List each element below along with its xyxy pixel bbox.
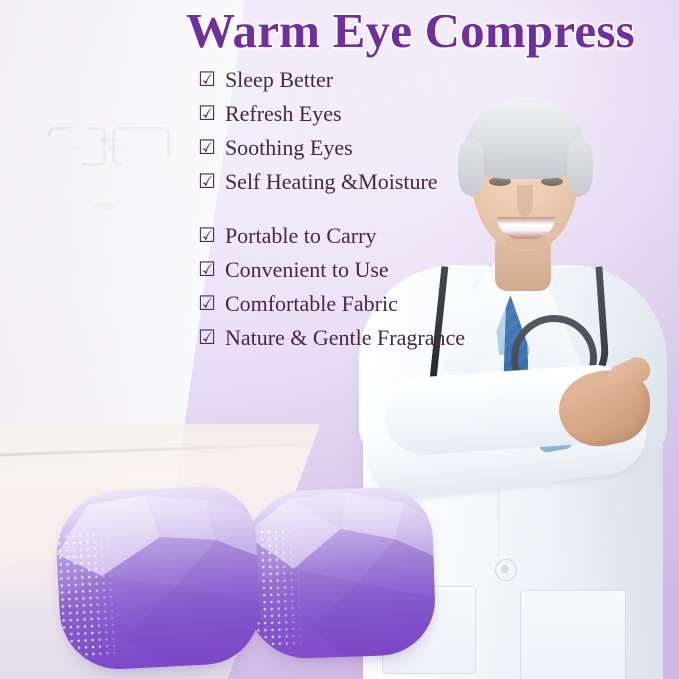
benefit-label: Soothing Eyes xyxy=(225,134,353,161)
checkbox-checked-icon: ☑ xyxy=(198,256,216,282)
benefit-label: Convenient to Use xyxy=(225,256,389,283)
checkbox-checked-icon: ☑ xyxy=(198,324,216,350)
doctor-coat-logo-icon xyxy=(495,559,517,581)
product-poster: Warm Eye Compress ☑ Sleep Better ☑ Refre… xyxy=(0,0,679,679)
list-item: ☑ Comfortable Fabric xyxy=(198,290,465,317)
doctor-nose xyxy=(517,185,533,217)
woman-nose xyxy=(102,164,110,188)
list-item: ☑ Sleep Better xyxy=(198,66,438,93)
list-item: ☑ Nature & Gentle Fragrance xyxy=(198,324,465,351)
benefit-label: Refresh Eyes xyxy=(225,100,342,127)
doctor-coat-pocket-right xyxy=(521,591,625,679)
page-title: Warm Eye Compress xyxy=(186,6,676,56)
list-item: ☑ Self Heating &Moisture xyxy=(198,168,438,195)
benefit-label: Comfortable Fabric xyxy=(225,290,398,317)
woman-mouth xyxy=(90,202,120,209)
list-item: ☑ Portable to Carry xyxy=(198,222,465,249)
eye-compress-pad-left xyxy=(53,484,262,672)
benefit-label: Sleep Better xyxy=(225,66,333,93)
pad-left-dot-texture xyxy=(56,530,123,661)
doctor-hair-left-side xyxy=(458,139,484,195)
checkbox-checked-icon: ☑ xyxy=(198,100,216,126)
checkbox-checked-icon: ☑ xyxy=(198,222,216,248)
list-item: ☑ Refresh Eyes xyxy=(198,100,438,127)
doctor-chin xyxy=(505,235,547,249)
list-item: ☑ Convenient to Use xyxy=(198,256,465,283)
benefits-list-bottom: ☑ Portable to Carry ☑ Convenient to Use … xyxy=(198,222,465,358)
checkbox-checked-icon: ☑ xyxy=(198,134,216,160)
eye-compress-pad-left-surface xyxy=(53,484,262,672)
checkbox-checked-icon: ☑ xyxy=(198,66,216,92)
checkbox-checked-icon: ☑ xyxy=(198,168,216,194)
doctor-hair-right-side xyxy=(567,139,593,195)
list-item: ☑ Soothing Eyes xyxy=(198,134,438,161)
eye-compress-pad-right xyxy=(243,486,437,660)
benefit-label: Nature & Gentle Fragrance xyxy=(225,324,465,351)
checkbox-checked-icon: ☑ xyxy=(198,290,216,316)
benefits-list-top: ☑ Sleep Better ☑ Refresh Eyes ☑ Soothing… xyxy=(198,66,438,202)
benefit-label: Portable to Carry xyxy=(225,222,377,249)
eye-compress-pad-right-surface xyxy=(243,486,437,660)
benefit-label: Self Heating &Moisture xyxy=(225,168,438,195)
